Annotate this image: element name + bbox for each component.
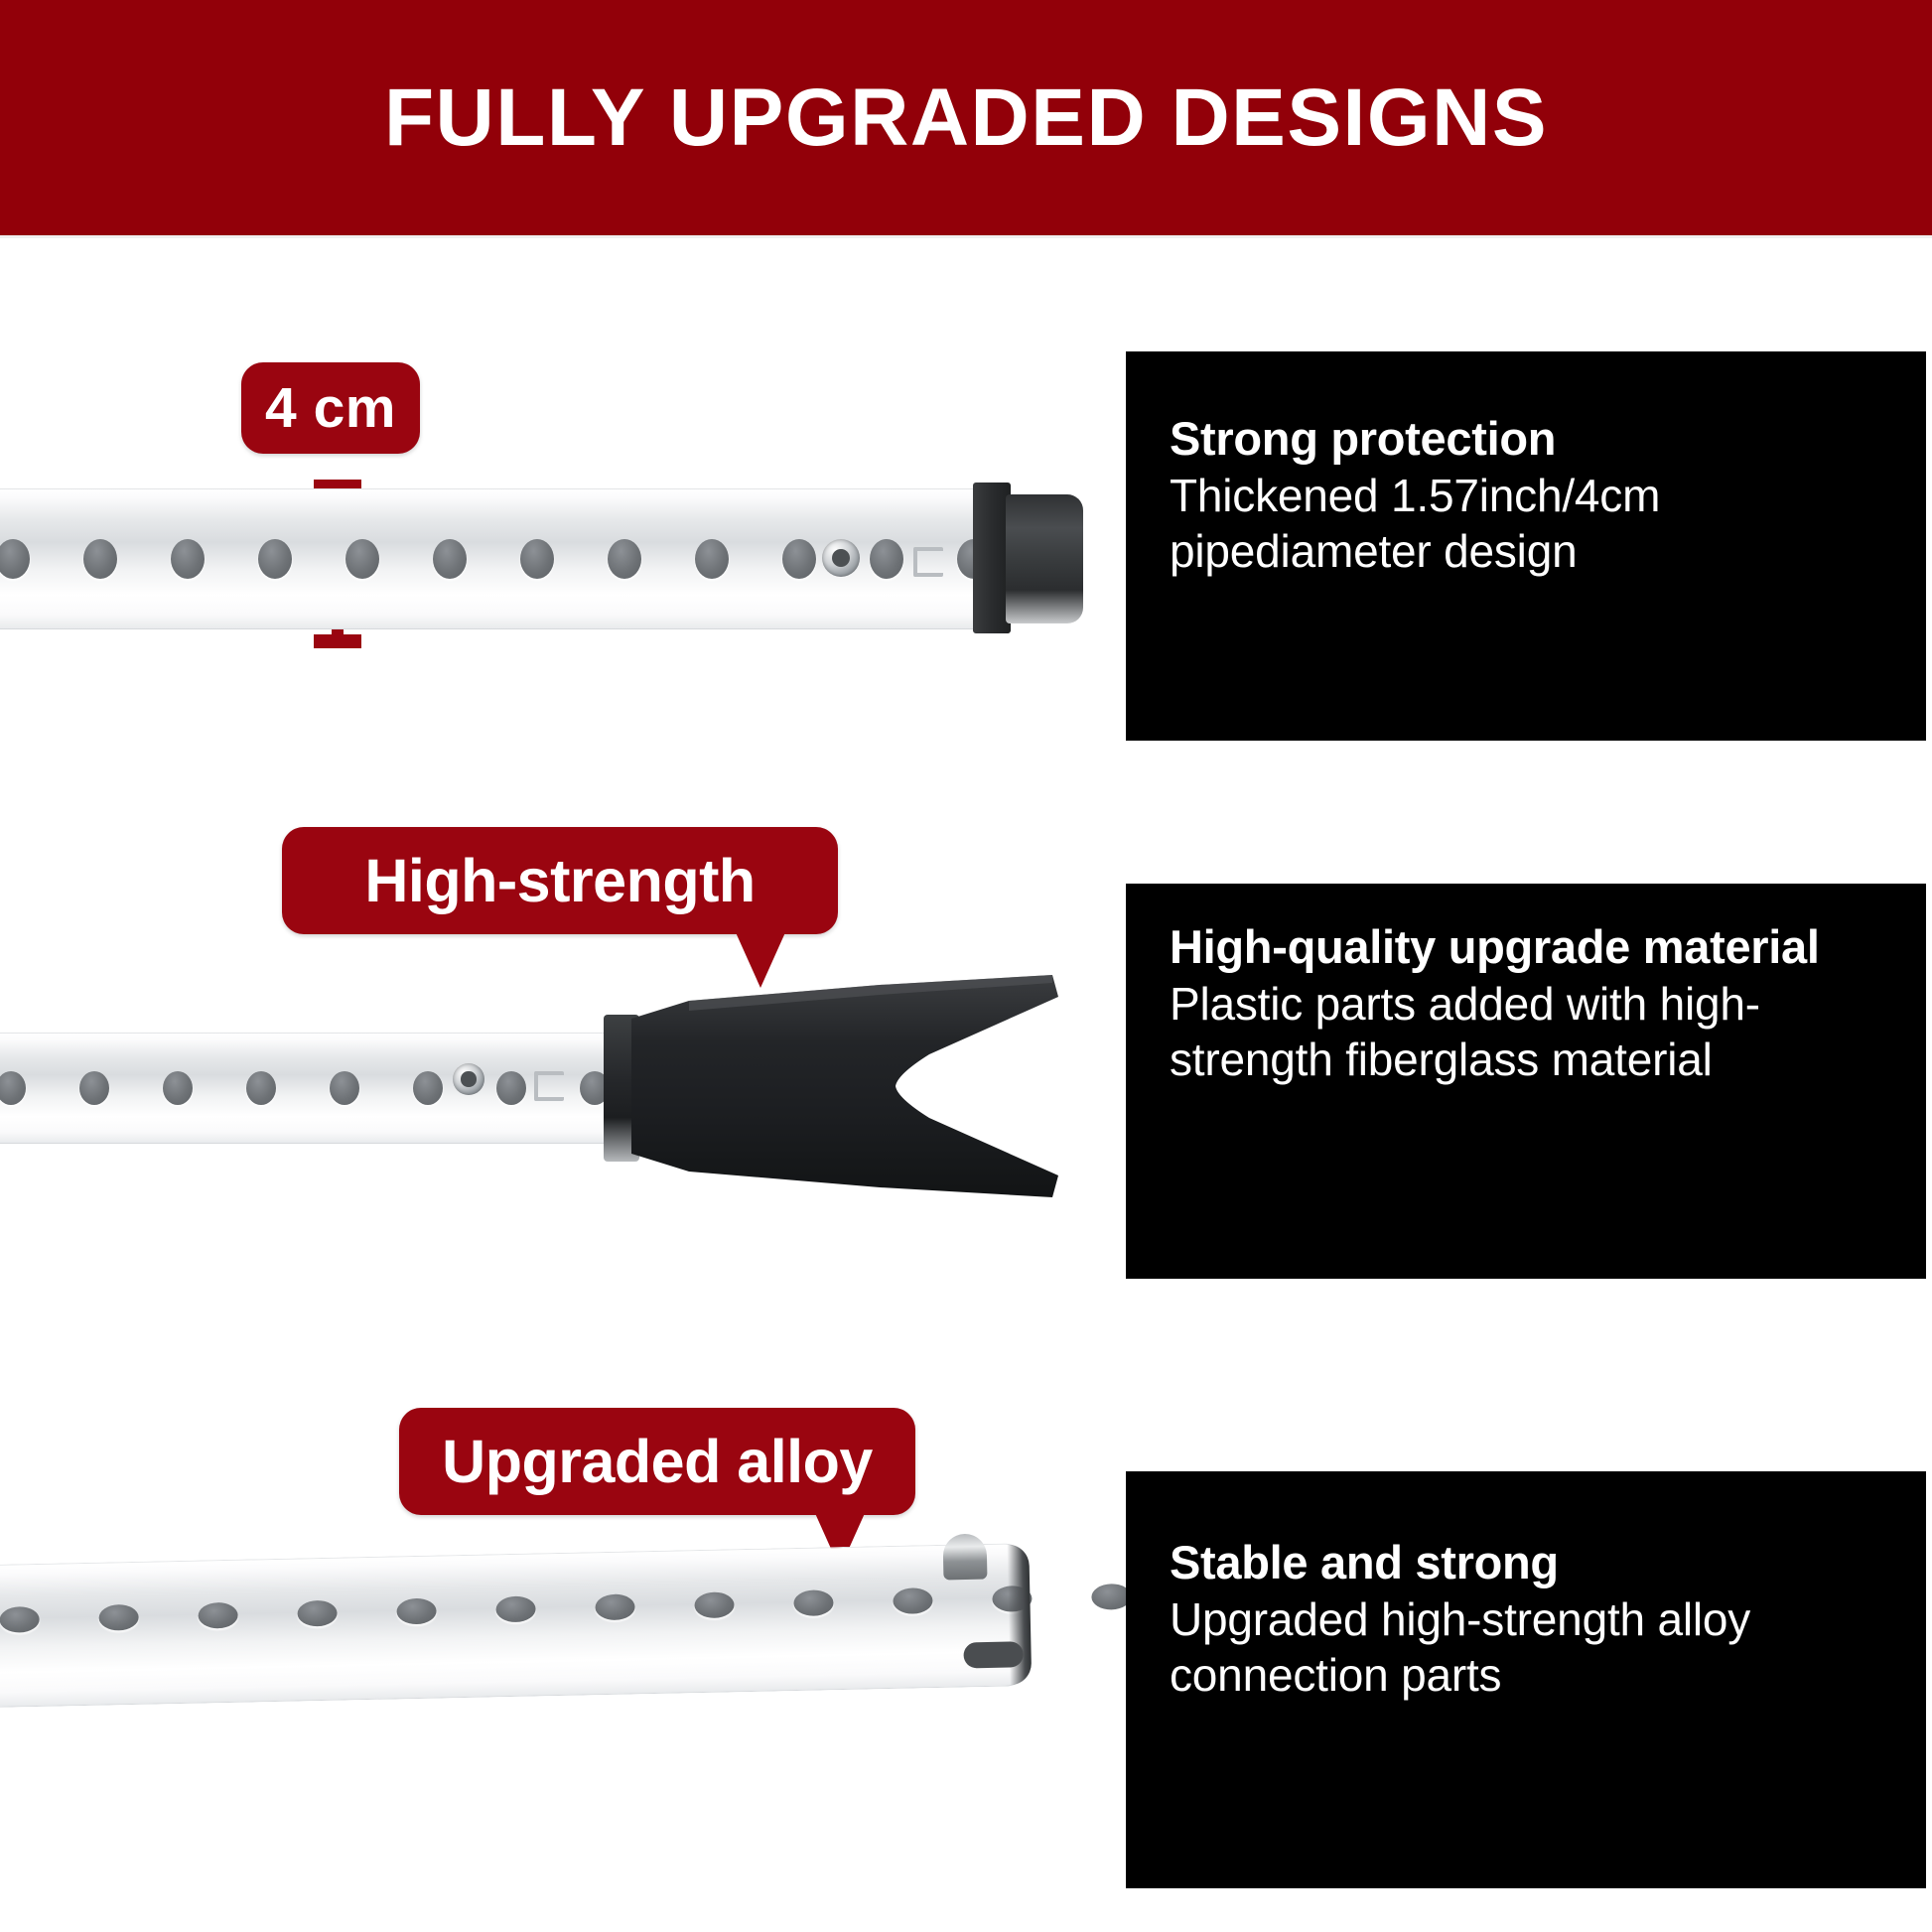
callout-bubble-high-strength: High-strength	[282, 827, 838, 934]
pipe-hole	[345, 539, 379, 579]
pipe-hole	[694, 1591, 735, 1618]
pipe-hole	[893, 1587, 933, 1614]
info-card-body: Thickened 1.57inch/4cm pipediameter desi…	[1170, 468, 1882, 580]
pipe-3-hole-row	[0, 1586, 1031, 1633]
pipe-hole	[258, 539, 292, 579]
info-card-stable-and-strong: Stable and strong Upgraded high-strength…	[1126, 1471, 1926, 1888]
caliper-cap-bottom	[314, 634, 361, 648]
pipe-hole	[413, 1071, 443, 1105]
callout-bubble-label: Upgraded alloy	[442, 1427, 873, 1496]
product-pipe-1	[0, 488, 983, 629]
pipe-hole	[495, 1595, 536, 1622]
header-banner: FULLY UPGRADED DESIGNS	[0, 0, 1932, 235]
callout-bubble-label: High-strength	[364, 846, 755, 915]
pipe-hole	[163, 1071, 193, 1105]
pipe-hole	[330, 1071, 359, 1105]
info-card-title: Strong protection	[1170, 413, 1882, 466]
product-pipe-3	[0, 1543, 1032, 1708]
pipe-hole	[595, 1593, 635, 1620]
pipe-hole	[608, 539, 641, 579]
banner-divider	[0, 235, 1932, 238]
pipe-hole	[0, 539, 30, 579]
pipe-hole	[246, 1071, 276, 1105]
info-card-high-quality-upgrade: High-quality upgrade material Plastic pa…	[1126, 884, 1926, 1279]
pipe-slot-mark-icon	[534, 1071, 564, 1101]
dimension-badge-4cm: 4 cm	[241, 362, 420, 454]
pipe-hole	[782, 539, 816, 579]
pipe-2-hole-row	[0, 1071, 616, 1105]
pipe-slot-mark-icon	[913, 547, 943, 577]
pipe-hole	[83, 539, 117, 579]
product-pipe-2	[0, 1033, 616, 1144]
info-card-body: Upgraded high-strength alloy connection …	[1170, 1591, 1882, 1704]
pipe-3-end-lip	[963, 1641, 1024, 1668]
pipe-hole	[793, 1589, 834, 1616]
pipe-hole	[396, 1598, 437, 1625]
callout-bubble-upgraded-alloy: Upgraded alloy	[399, 1408, 915, 1515]
pipe-hole	[198, 1602, 238, 1629]
pipe-hole	[98, 1604, 139, 1631]
pipe-hole	[297, 1600, 338, 1627]
pipe-hole	[870, 539, 903, 579]
pipe-hole	[496, 1071, 526, 1105]
pipe-screw-icon	[453, 1063, 484, 1095]
page-title: FULLY UPGRADED DESIGNS	[384, 77, 1548, 159]
pipe-hole	[433, 539, 467, 579]
pipe-hole	[171, 539, 205, 579]
pipe-1-end-cap	[1006, 494, 1083, 623]
pipe-hole	[0, 1071, 26, 1105]
pipe-screw-icon	[822, 539, 860, 577]
pipe-hole	[0, 1606, 40, 1633]
black-fork-connector-icon	[631, 971, 1068, 1201]
alloy-connection-pin-icon	[943, 1534, 988, 1581]
info-card-strong-protection: Strong protection Thickened 1.57inch/4cm…	[1126, 351, 1926, 741]
info-card-body: Plastic parts added with high-strength f…	[1170, 976, 1882, 1088]
info-card-title: Stable and strong	[1170, 1537, 1882, 1589]
info-card-title: High-quality upgrade material	[1170, 921, 1882, 974]
pipe-hole	[79, 1071, 109, 1105]
pipe-hole	[520, 539, 554, 579]
pipe-hole	[695, 539, 729, 579]
